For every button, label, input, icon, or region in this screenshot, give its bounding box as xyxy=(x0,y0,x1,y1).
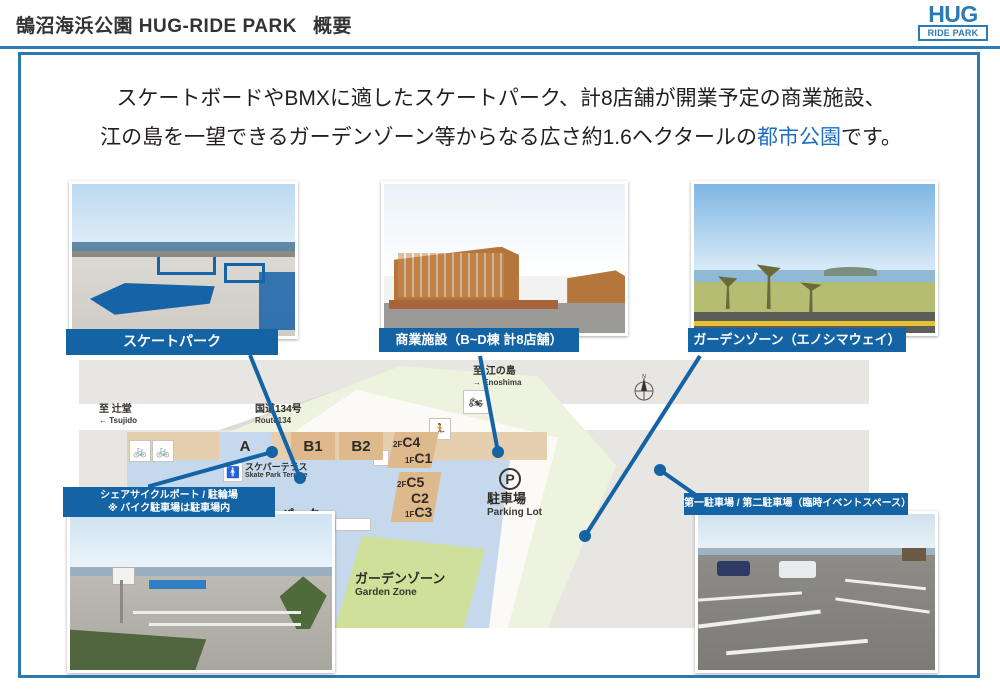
lead-line-2-a: 江の島を一望できるガーデンゾーン等からなる広さ約1.6ヘクタールの xyxy=(100,126,757,149)
map-building-c1: 1FC1 xyxy=(405,450,432,466)
map-building-b1: B1 xyxy=(291,432,335,460)
svg-text:N: N xyxy=(642,374,646,380)
callout-garden-zone[interactable]: ガーデンゾーン（エノシマウェイ） xyxy=(688,328,906,352)
photo-signboard xyxy=(112,567,135,585)
bicycle-icon: 🚲 xyxy=(129,440,151,462)
map-building-c3: 1FC3 xyxy=(405,504,432,520)
lead-line-2-b: です。 xyxy=(841,126,902,149)
lead-line-2: 江の島を一望できるガーデンゾーン等からなる広さ約1.6ヘクタールの都市公園です。 xyxy=(51,118,951,157)
map-direction-tsujido: 至 辻堂 ← Tsujido xyxy=(99,404,137,425)
map-building-c1-label: C1 xyxy=(414,450,432,466)
map-building-c3-label: C3 xyxy=(414,504,432,520)
map-building-c3-floor: 1F xyxy=(405,510,414,519)
cycle-port-photo xyxy=(67,511,335,673)
map-direction-tsujido-en: ← Tsujido xyxy=(99,416,137,425)
map-route-134: 国道134号 Route134 xyxy=(255,404,302,425)
photo-car-dark xyxy=(717,561,750,577)
photo-blue-rail-4 xyxy=(259,272,295,330)
callout-cycle-port-line2: ※ バイク駐車場は駐車場内 xyxy=(108,502,230,515)
skate-park-photo xyxy=(69,181,298,339)
photo-brick-apron xyxy=(389,300,558,309)
map-direction-enoshima-jp: 至 江の島 xyxy=(473,366,521,378)
callout-cycle-port[interactable]: シェアサイクルポート / 駐輪場 ※ バイク駐車場は駐車場内 xyxy=(63,487,275,517)
map-direction-enoshima-en: → Enoshima xyxy=(473,378,521,387)
photo-enoshima-island xyxy=(824,267,877,276)
map-building-c4: 2FC4 xyxy=(393,434,420,450)
map-building-c4-label: C4 xyxy=(402,434,420,450)
map-area-parking-en: Parking Lot xyxy=(487,507,542,519)
callout-commercial-facility-label: 商業施設（B~D棟 計8店舗） xyxy=(395,332,562,348)
callout-commercial-facility[interactable]: 商業施設（B~D棟 計8店舗） xyxy=(379,328,579,352)
map-area-garden: ガーデンゾーン Garden Zone xyxy=(355,572,445,598)
callout-cycle-port-line1: シェアサイクルポート / 駐輪場 xyxy=(100,489,238,502)
bicycle-share-icon: 🚲 xyxy=(152,440,174,462)
map-direction-enoshima: 至 江の島 → Enoshima xyxy=(473,366,521,387)
motorcycle-icon: 🏍 xyxy=(463,390,489,414)
lead-line-1: スケートボードやBMXに適したスケートパーク、計8店舗が開業予定の商業施設、 xyxy=(51,79,951,118)
photo-parking-line-2 xyxy=(149,623,301,626)
map-building-b2: B2 xyxy=(339,432,383,460)
facility-icons-row-1 xyxy=(335,518,371,531)
map-terrace-strip xyxy=(127,432,547,460)
callout-garden-zone-label: ガーデンゾーン（エノシマウェイ） xyxy=(693,332,900,348)
map-area-garden-jp: ガーデンゾーン xyxy=(355,572,445,587)
map-building-c5-label: C5 xyxy=(406,474,424,490)
restroom-icon: 🚹 xyxy=(223,462,243,482)
parking-lot-photo xyxy=(695,511,938,673)
map-area-parking: 駐車場 Parking Lot xyxy=(487,492,542,518)
photo-road-line xyxy=(694,321,935,325)
map-area-garden-en: Garden Zone xyxy=(355,587,445,599)
map-direction-tsujido-jp: 至 辻堂 xyxy=(99,404,137,416)
photo-blue-rail-2 xyxy=(157,254,217,275)
header-divider xyxy=(0,46,1000,49)
map-area-terrace-jp: スケパーテラス xyxy=(245,462,308,472)
photo-sky xyxy=(70,514,332,573)
photo-parking-line-1 xyxy=(133,611,301,614)
content-frame: スケートボードやBMXに適したスケートパーク、計8店舗が開業予定の商業施設、 江… xyxy=(18,52,980,678)
callout-skate-park[interactable]: スケートパーク xyxy=(66,329,278,355)
page-title-sub: 概要 xyxy=(313,16,352,37)
hug-ride-park-logo: HUG RIDE PARK xyxy=(918,4,988,44)
map-area-terrace: スケパーテラス Skate Park Terrace xyxy=(245,462,308,480)
map-building-c4-floor: 2F xyxy=(393,440,402,449)
map-route-134-jp: 国道134号 xyxy=(255,404,302,416)
photo-hut xyxy=(902,548,926,560)
callout-parking-label: 第一駐車場 / 第二駐車場（臨時イベントスペース） xyxy=(684,498,908,511)
logo-wordmark: HUG xyxy=(918,4,988,24)
photo-sky xyxy=(694,184,935,276)
commercial-facility-photo xyxy=(381,181,628,336)
page-title-main: 鵠沼海浜公園 HUG-RIDE PARK xyxy=(16,16,297,37)
photo-sign-post xyxy=(120,580,123,624)
page-title: 鵠沼海浜公園 HUG-RIDE PARK概要 xyxy=(16,11,352,38)
map-building-c5: 2FC5 xyxy=(397,474,424,490)
map-building-c5-floor: 2F xyxy=(397,480,406,489)
photo-building-facade-texture xyxy=(398,253,504,298)
map-area-parking-jp: 駐車場 xyxy=(487,492,542,507)
map-route-134-en: Route134 xyxy=(255,416,302,425)
callout-skate-park-label: スケートパーク xyxy=(123,333,221,351)
photo-bicycle-racks xyxy=(149,580,207,589)
map-building-a: A xyxy=(219,432,271,460)
lead-paragraph: スケートボードやBMXに適したスケートパーク、計8店舗が開業予定の商業施設、 江… xyxy=(51,79,951,157)
garden-zone-photo xyxy=(691,181,938,336)
page-header: 鵠沼海浜公園 HUG-RIDE PARK概要 HUG RIDE PARK xyxy=(0,0,1000,48)
callout-parking[interactable]: 第一駐車場 / 第二駐車場（臨時イベントスペース） xyxy=(684,493,908,515)
map-building-c1-floor: 1F xyxy=(405,456,414,465)
logo-subtitle: RIDE PARK xyxy=(918,25,988,41)
map-area-terrace-en: Skate Park Terrace xyxy=(245,472,308,480)
photo-car-white xyxy=(779,561,817,578)
slide-page: 鵠沼海浜公園 HUG-RIDE PARK概要 HUG RIDE PARK スケー… xyxy=(0,0,1000,690)
photo-seawall xyxy=(72,251,295,257)
compass-icon: N xyxy=(633,374,655,396)
parking-p-icon: P xyxy=(499,468,521,490)
lead-highlight: 都市公園 xyxy=(757,126,841,149)
